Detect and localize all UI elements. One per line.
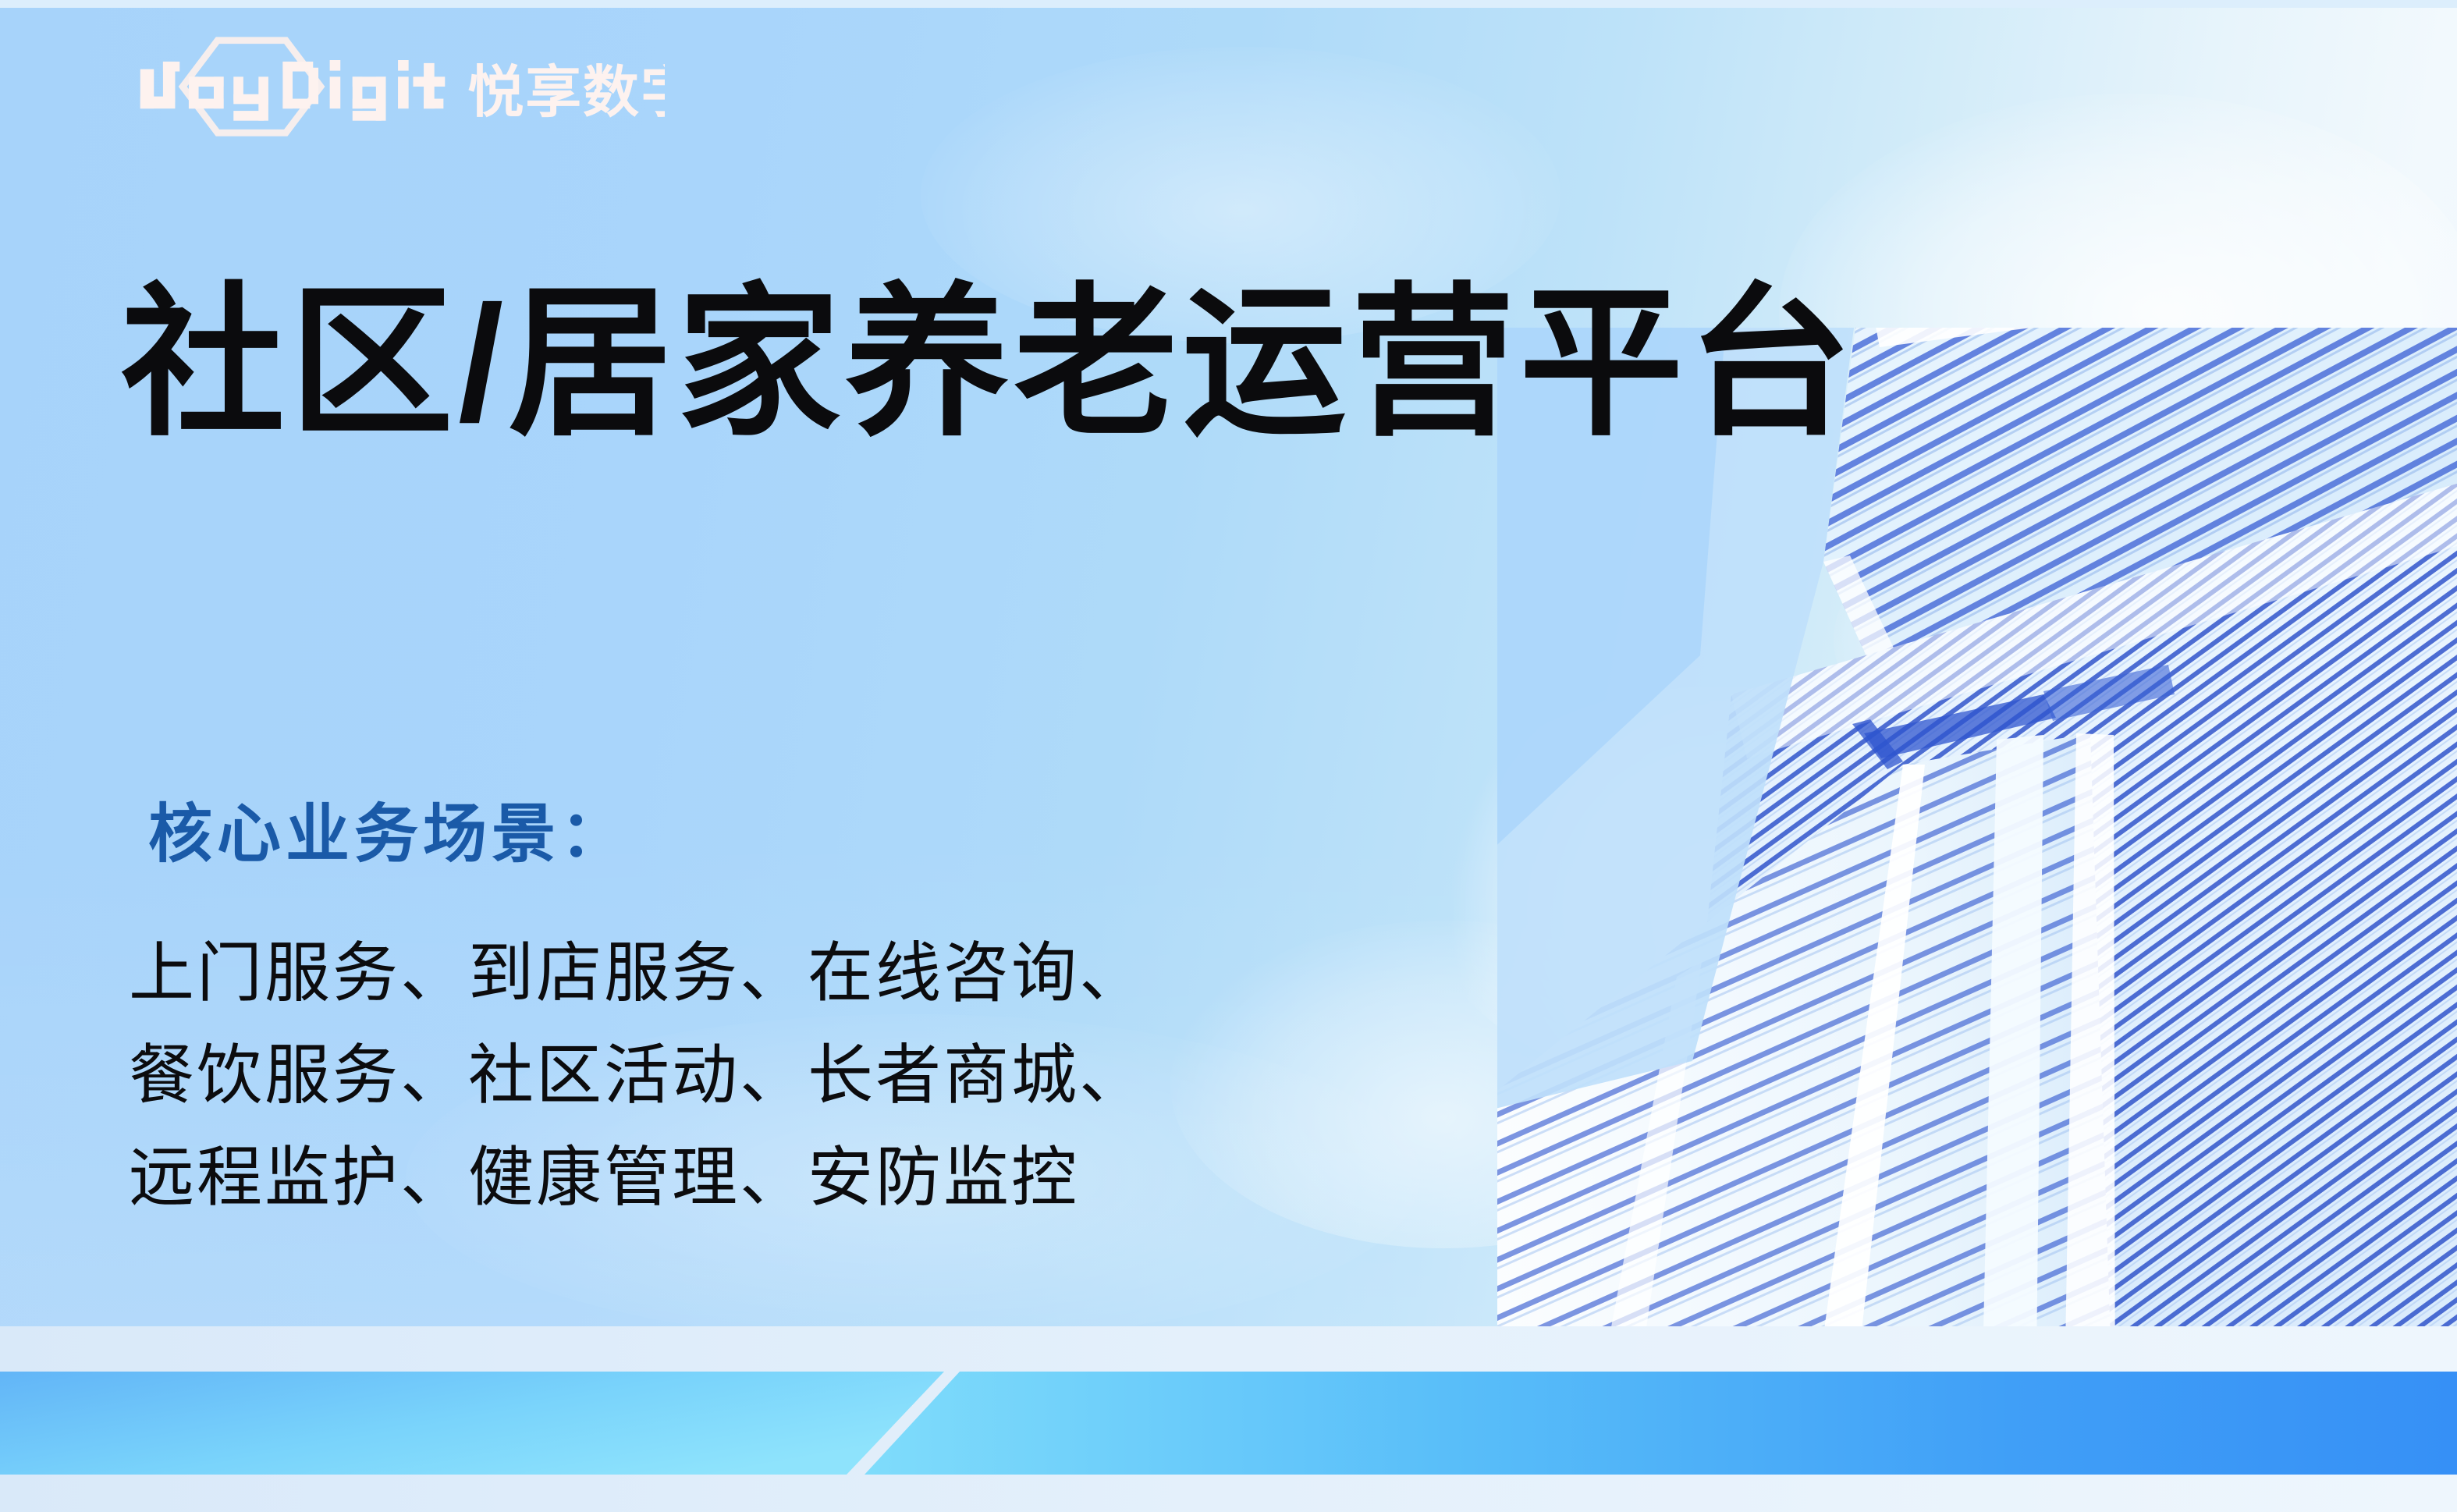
page-title: 社区/居家养老运营平台 bbox=[121, 272, 1856, 455]
section-subtitle: 核心业务场景： bbox=[148, 782, 629, 875]
scenario-list: 上门服务、到店服务、在线咨询、 餐饮服务、社区活动、长者商城、 远程监护、健康管… bbox=[129, 922, 1147, 1229]
top-pale-strip bbox=[0, 0, 2457, 8]
skyscraper-photo bbox=[1497, 328, 2457, 1436]
scenario-line: 餐饮服务、社区活动、长者商城、 bbox=[129, 1024, 1147, 1127]
slide-root: 悦享数字 社区/居家养老运营平台 核心业务场景： 上门服务、到店服务、在线咨询、… bbox=[0, 0, 2457, 1512]
brand-logo[interactable]: 悦享数字 bbox=[134, 28, 665, 145]
bottom-diagonal-band bbox=[0, 1326, 2457, 1512]
logo-cn-text: 悦享数字 bbox=[467, 62, 665, 124]
scenario-line: 远程监护、健康管理、安防监控 bbox=[129, 1127, 1147, 1229]
scenario-line: 上门服务、到店服务、在线咨询、 bbox=[129, 922, 1147, 1024]
